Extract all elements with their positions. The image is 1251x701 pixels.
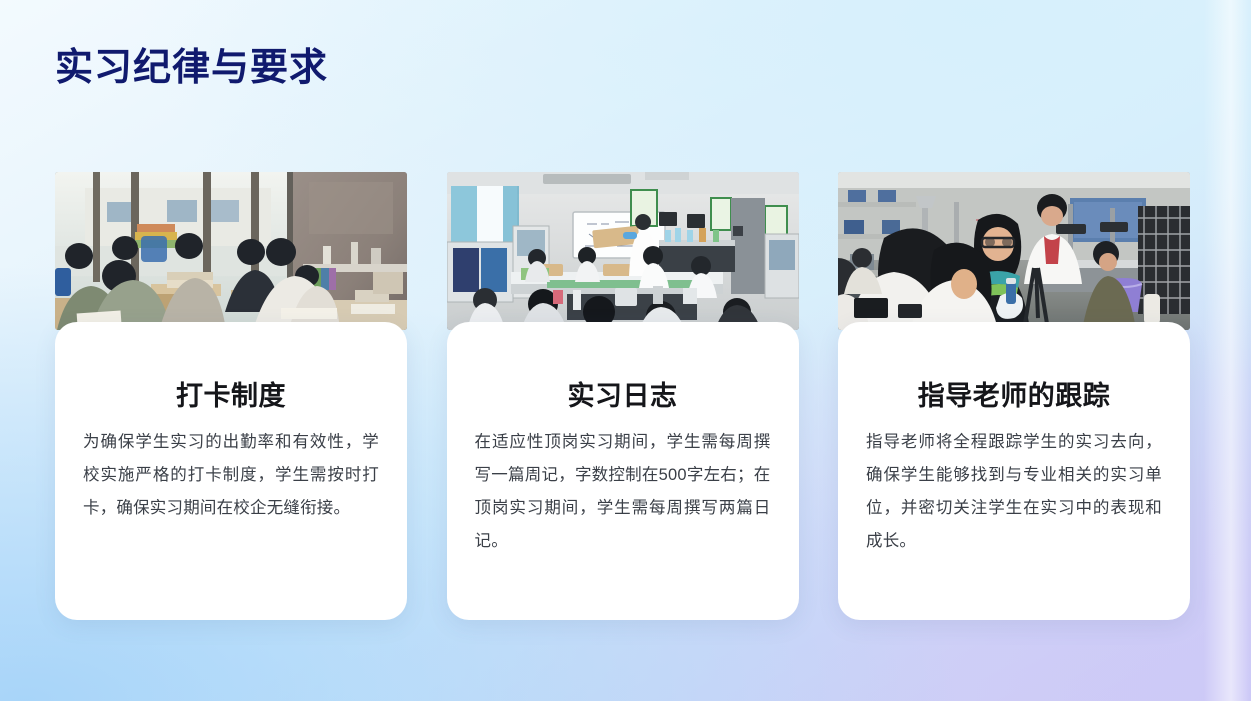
card-body: 为确保学生实习的出勤率和有效性，学校实施严格的打卡制度，学生需按时打卡，确保实习… [83, 426, 379, 525]
card-photo-lab-students-equipment [838, 172, 1190, 330]
card-panel: 打卡制度 为确保学生实习的出勤率和有效性，学校实施严格的打卡制度，学生需按时打卡… [55, 322, 407, 620]
card-grid: 打卡制度 为确保学生实习的出勤率和有效性，学校实施严格的打卡制度，学生需按时打卡… [55, 172, 1190, 622]
card-body: 在适应性顶岗实习期间，学生需每周撰写一篇周记，字数控制在500字左右；在顶岗实习… [475, 426, 771, 558]
card-item[interactable]: 实习日志 在适应性顶岗实习期间，学生需每周撰写一篇周记，字数控制在500字左右；… [447, 172, 799, 620]
card-panel: 指导老师的跟踪 指导老师将全程跟踪学生的实习去向，确保学生能够找到与专业相关的实… [838, 322, 1190, 620]
card-title: 实习日志 [447, 374, 799, 413]
card-photo-lab-demonstration [447, 172, 799, 330]
card-photo-students-studying [55, 172, 407, 330]
slide-root: 实习纪律与要求 [0, 0, 1251, 701]
page-title: 实习纪律与要求 [55, 45, 328, 93]
card-panel: 实习日志 在适应性顶岗实习期间，学生需每周撰写一篇周记，字数控制在500字左右；… [447, 322, 799, 620]
card-item[interactable]: 指导老师的跟踪 指导老师将全程跟踪学生的实习去向，确保学生能够找到与专业相关的实… [838, 172, 1190, 620]
card-title: 指导老师的跟踪 [838, 374, 1190, 413]
card-title: 打卡制度 [55, 374, 407, 413]
card-item[interactable]: 打卡制度 为确保学生实习的出勤率和有效性，学校实施严格的打卡制度，学生需按时打卡… [55, 172, 407, 620]
card-body: 指导老师将全程跟踪学生的实习去向，确保学生能够找到与专业相关的实习单位，并密切关… [866, 426, 1162, 558]
